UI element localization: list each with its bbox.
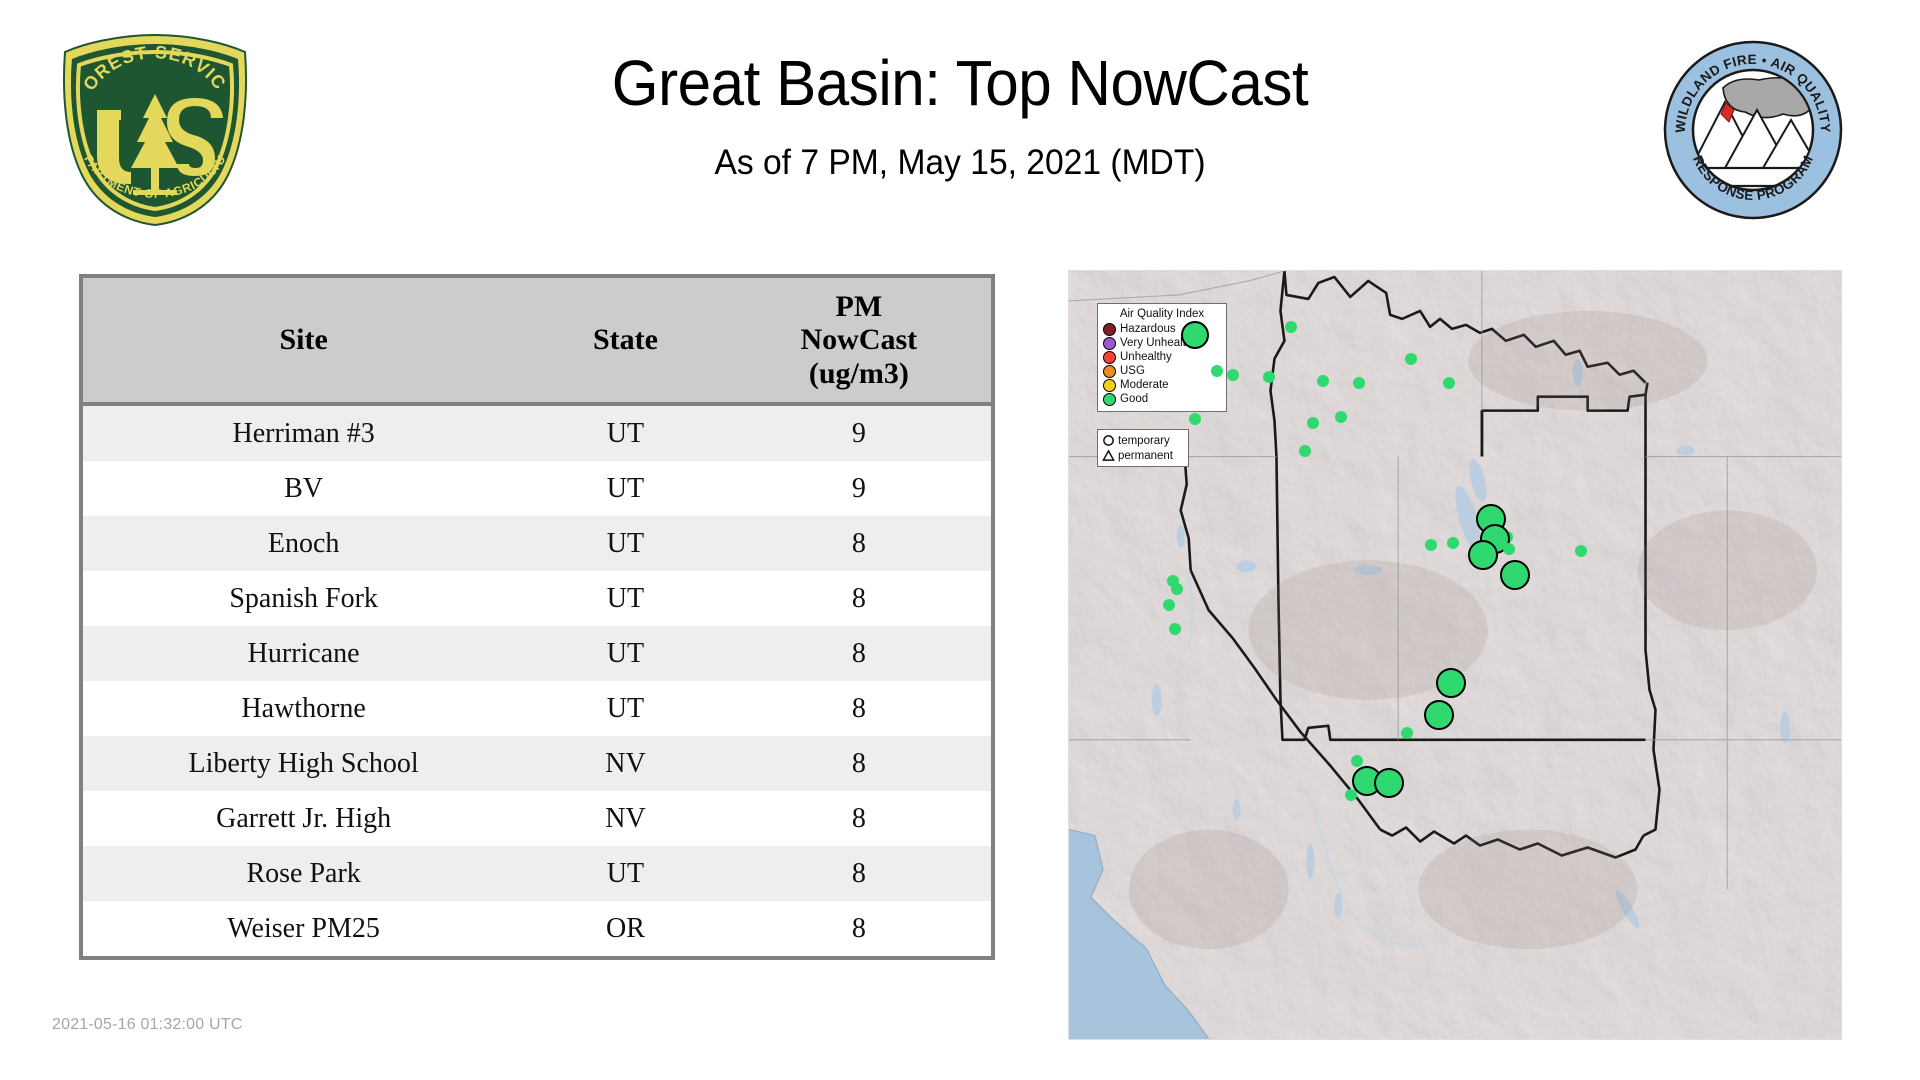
monitor-marker[interactable] [1211, 365, 1223, 377]
table-header-row: Site State PM NowCast (ug/m3) [83, 278, 991, 404]
cell-pm-nowcast: 8 [727, 846, 991, 901]
monitor-marker[interactable] [1335, 411, 1347, 423]
cell-pm-nowcast: 9 [727, 404, 991, 461]
monitor-marker-highlighted[interactable] [1424, 700, 1454, 730]
cell-state: NV [524, 736, 726, 791]
monitor-marker-highlighted[interactable] [1468, 540, 1498, 570]
cell-state: UT [524, 626, 726, 681]
monitor-marker-highlighted[interactable] [1181, 321, 1209, 349]
monitor-marker[interactable] [1503, 543, 1515, 555]
monitor-marker[interactable] [1189, 413, 1201, 425]
column-header-state[interactable]: State [524, 278, 726, 404]
monitor-marker[interactable] [1169, 623, 1181, 635]
cell-state: UT [524, 461, 726, 516]
cell-site: BV [83, 461, 524, 516]
aqi-legend-row: Unhealthy [1103, 350, 1221, 364]
monitor-marker[interactable] [1401, 727, 1413, 739]
table-row[interactable]: Weiser PM25OR8 [83, 901, 991, 956]
monitor-marker[interactable] [1443, 377, 1455, 389]
table-row[interactable]: EnochUT8 [83, 516, 991, 571]
legend-label-temporary: temporary [1118, 434, 1170, 448]
cell-state: UT [524, 404, 726, 461]
cell-pm-nowcast: 9 [727, 461, 991, 516]
monitor-marker[interactable] [1405, 353, 1417, 365]
monitor-marker[interactable] [1447, 537, 1459, 549]
aqi-legend-label: Hazardous [1120, 323, 1176, 336]
aqi-legend-row: Moderate [1103, 378, 1221, 392]
cell-site: Herriman #3 [83, 404, 524, 461]
cell-site: Spanish Fork [83, 571, 524, 626]
table-head: Site State PM NowCast (ug/m3) [83, 278, 991, 404]
monitor-marker[interactable] [1575, 545, 1587, 557]
circle-icon [1102, 434, 1115, 447]
table-row[interactable]: HurricaneUT8 [83, 626, 991, 681]
table-row[interactable]: Liberty High SchoolNV8 [83, 736, 991, 791]
wfaqrp-circle-icon: WILDLAND FIRE • AIR QUALITY RESPONSE PRO… [1663, 40, 1843, 220]
aqi-legend-title: Air Quality Index [1103, 308, 1221, 320]
aqi-legend-label: Good [1120, 393, 1148, 406]
nowcast-table: Site State PM NowCast (ug/m3) Herriman #… [83, 278, 991, 956]
nowcast-table-container: Site State PM NowCast (ug/m3) Herriman #… [79, 274, 995, 960]
monitor-marker[interactable] [1285, 321, 1297, 333]
cell-pm-nowcast: 8 [727, 791, 991, 846]
aqi-legend-dot-icon [1103, 379, 1116, 392]
table-row[interactable]: HawthorneUT8 [83, 681, 991, 736]
aqi-legend-dot-icon [1103, 337, 1116, 350]
monitor-marker-highlighted[interactable] [1500, 560, 1530, 590]
table-row[interactable]: Herriman #3UT9 [83, 404, 991, 461]
page-title: Great Basin: Top NowCast [340, 50, 1581, 117]
cell-state: UT [524, 571, 726, 626]
aqi-legend-row: Good [1103, 392, 1221, 406]
legend-row-temporary: temporary [1102, 433, 1184, 448]
cell-pm-nowcast: 8 [727, 901, 991, 956]
cell-site: Hurricane [83, 626, 524, 681]
monitor-marker[interactable] [1353, 377, 1365, 389]
air-quality-map[interactable]: Air Quality Index HazardousVery Unhealth… [1068, 270, 1842, 1040]
aqi-legend-row: USG [1103, 364, 1221, 378]
cell-state: UT [524, 516, 726, 571]
monitor-marker[interactable] [1171, 583, 1183, 595]
monitor-marker[interactable] [1351, 755, 1363, 767]
cell-state: NV [524, 791, 726, 846]
monitor-marker[interactable] [1299, 445, 1311, 457]
monitor-marker[interactable] [1263, 371, 1275, 383]
cell-state: UT [524, 846, 726, 901]
table-row[interactable]: Garrett Jr. HighNV8 [83, 791, 991, 846]
triangle-icon [1102, 449, 1115, 462]
aqi-legend-dot-icon [1103, 323, 1116, 336]
aqi-legend-label: USG [1120, 365, 1145, 378]
cell-pm-nowcast: 8 [727, 571, 991, 626]
cell-site: Garrett Jr. High [83, 791, 524, 846]
cell-pm-nowcast: 8 [727, 736, 991, 791]
column-header-site[interactable]: Site [83, 278, 524, 404]
aqi-legend-dot-icon [1103, 351, 1116, 364]
monitor-marker[interactable] [1227, 369, 1239, 381]
monitor-marker-highlighted[interactable] [1436, 668, 1466, 698]
cell-site: Enoch [83, 516, 524, 571]
table-row[interactable]: Spanish ForkUT8 [83, 571, 991, 626]
monitor-marker[interactable] [1307, 417, 1319, 429]
column-header-line-3: (ug/m3) [809, 357, 909, 390]
column-header-line-2: NowCast [800, 323, 917, 356]
table-body: Herriman #3UT9BVUT9EnochUT8Spanish ForkU… [83, 404, 991, 956]
aqi-legend-dot-icon [1103, 365, 1116, 378]
table-row[interactable]: BVUT9 [83, 461, 991, 516]
aqi-legend-label: Moderate [1120, 379, 1169, 392]
cell-site: Hawthorne [83, 681, 524, 736]
monitor-marker[interactable] [1345, 789, 1357, 801]
aqi-legend: Air Quality Index HazardousVery Unhealth… [1097, 303, 1227, 412]
aqi-legend-dot-icon [1103, 393, 1116, 406]
cell-site: Liberty High School [83, 736, 524, 791]
monitor-marker[interactable] [1425, 539, 1437, 551]
wildland-fire-air-quality-logo: WILDLAND FIRE • AIR QUALITY RESPONSE PRO… [1663, 40, 1843, 220]
footer-timestamp: 2021-05-16 01:32:00 UTC [52, 1016, 243, 1034]
cell-site: Rose Park [83, 846, 524, 901]
monitor-marker[interactable] [1163, 599, 1175, 611]
monitor-marker-highlighted[interactable] [1374, 768, 1404, 798]
us-forest-service-logo: FOREST SERVICE DEPARTMENT OF AGRICULTURE [55, 32, 255, 228]
column-header-line-1: PM [836, 290, 883, 323]
page-subtitle: As of 7 PM, May 15, 2021 (MDT) [326, 143, 1593, 183]
forest-service-shield-icon: FOREST SERVICE DEPARTMENT OF AGRICULTURE [55, 32, 255, 228]
legend-row-permanent: permanent [1102, 448, 1184, 463]
cell-site: Weiser PM25 [83, 901, 524, 956]
cell-pm-nowcast: 8 [727, 626, 991, 681]
aqi-legend-label: Unhealthy [1120, 351, 1172, 364]
column-header-pm-nowcast[interactable]: PM NowCast (ug/m3) [727, 278, 991, 404]
cell-pm-nowcast: 8 [727, 681, 991, 736]
cell-state: OR [524, 901, 726, 956]
cell-pm-nowcast: 8 [727, 516, 991, 571]
cell-state: UT [524, 681, 726, 736]
title-block: Great Basin: Top NowCast As of 7 PM, May… [300, 50, 1620, 183]
legend-label-permanent: permanent [1118, 449, 1173, 463]
monitor-marker[interactable] [1317, 375, 1329, 387]
monitor-type-legend: temporary permanent [1097, 429, 1189, 467]
page-header: FOREST SERVICE DEPARTMENT OF AGRICULTURE… [0, 0, 1920, 270]
table-row[interactable]: Rose ParkUT8 [83, 846, 991, 901]
